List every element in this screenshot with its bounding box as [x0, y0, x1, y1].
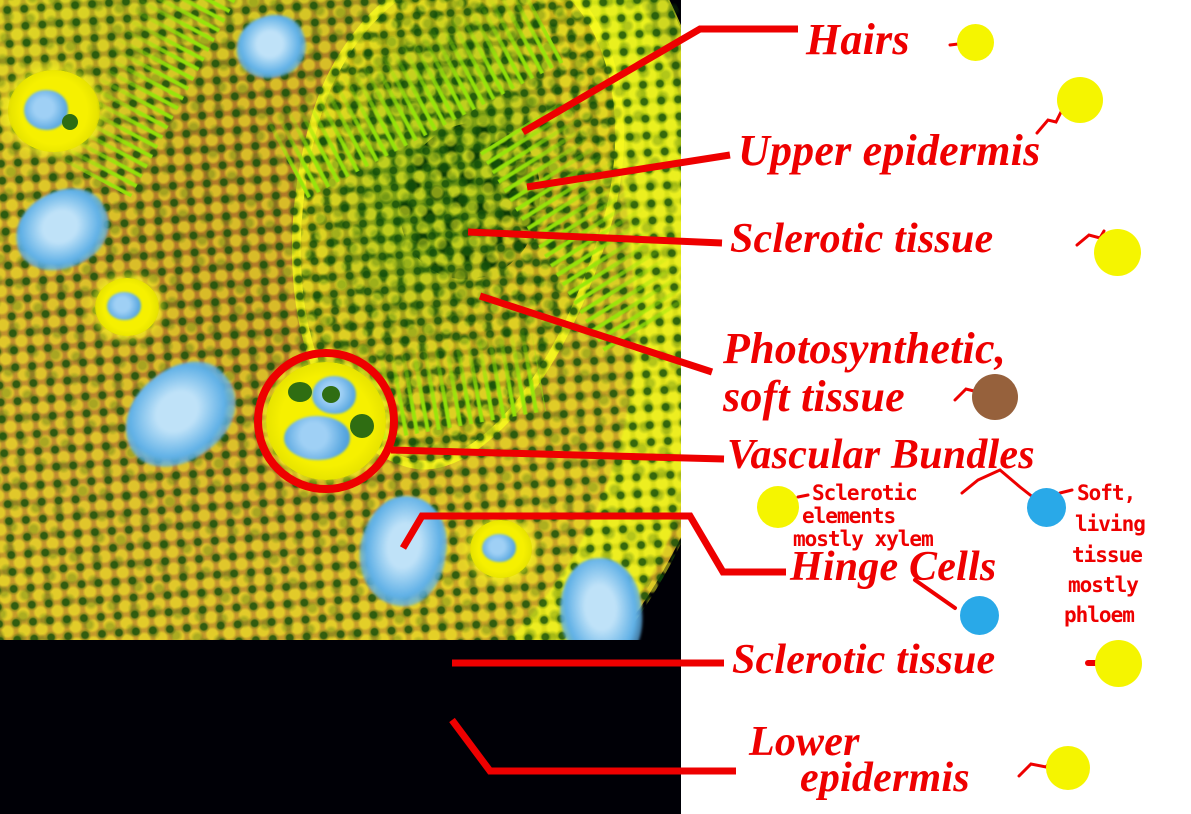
phloem-note-line1: Soft,: [1077, 482, 1135, 504]
phloem-note-line4: mostly: [1068, 574, 1138, 596]
annotated-micrograph-figure: Hairs Upper epidermis Sclerotic tissue P…: [0, 0, 1191, 814]
photosynthetic-swatch: [972, 374, 1018, 420]
lower-epidermis-swatch: [1046, 746, 1090, 790]
label-lower-epidermis-2: epidermis: [800, 757, 970, 800]
slide-background: [0, 640, 681, 814]
vascular-bundle: [95, 278, 159, 336]
hairs-swatch: [957, 24, 994, 61]
sclerotic-tissue-1-swatch: [1094, 229, 1141, 276]
xylem-swatch: [757, 486, 799, 528]
vascular-bundle: [470, 520, 532, 578]
label-photosynthetic-2: soft tissue: [723, 375, 905, 420]
label-upper-epidermis: Upper epidermis: [738, 129, 1040, 174]
hinge-cells-swatch: [960, 596, 999, 635]
vascular-bundle: [8, 70, 100, 152]
label-hairs: Hairs: [806, 18, 910, 63]
label-hinge-cells: Hinge Cells: [790, 546, 996, 589]
vascular-bundle-highlighted: [266, 362, 386, 480]
upper-epidermis-swatch: [1057, 77, 1103, 123]
phloem-note-line2: living: [1075, 513, 1145, 535]
phloem-note-line5: phloem: [1064, 604, 1134, 626]
label-vascular-bundles: Vascular Bundles: [727, 434, 1035, 477]
label-photosynthetic-1: Photosynthetic,: [723, 327, 1006, 372]
xylem-note-line3: mostly xylem: [793, 528, 933, 550]
label-sclerotic-tissue-2: Sclerotic tissue: [732, 639, 995, 682]
phloem-swatch: [1027, 488, 1066, 527]
phloem-note-line3: tissue: [1072, 544, 1142, 566]
label-sclerotic-tissue-1: Sclerotic tissue: [730, 218, 993, 261]
xylem-note-line2: elements: [802, 505, 895, 527]
sclerotic-tissue-2-swatch: [1095, 640, 1142, 687]
xylem-note-line1: Sclerotic: [812, 482, 917, 504]
leaf-cross-section-micrograph: [0, 0, 681, 814]
